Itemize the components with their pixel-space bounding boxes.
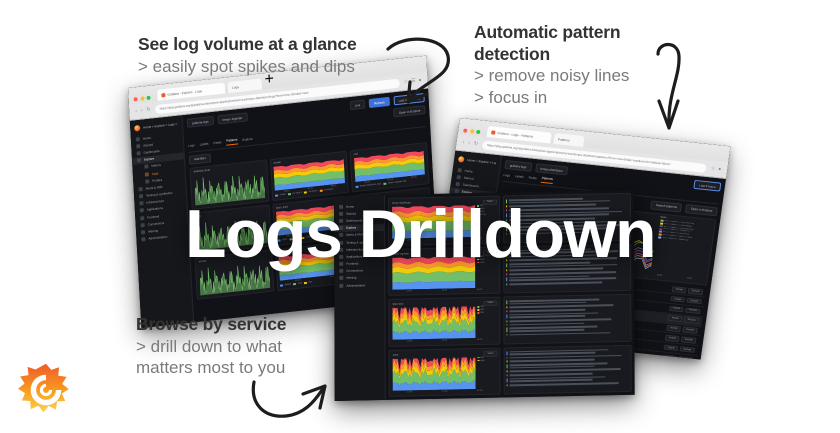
home-icon xyxy=(136,137,140,141)
sidebar-item-label: Profiles xyxy=(152,178,162,183)
axis-tick: 14:00 xyxy=(477,389,482,391)
star-icon xyxy=(339,212,343,216)
legend-swatch xyxy=(659,228,662,230)
sidebar-item-label: Connections xyxy=(346,269,363,273)
exclude-button[interactable]: Exclude xyxy=(685,307,700,314)
row-actions[interactable]: IncludeExclude xyxy=(672,286,703,295)
tab-fields[interactable]: Fields xyxy=(528,175,537,181)
legend-swatch xyxy=(477,357,480,358)
service-panel[interactable]: nginx-jsonSelect20040450012:0013:0014:00 xyxy=(388,297,500,347)
reload-icon[interactable]: ↻ xyxy=(473,141,478,147)
row-actions[interactable]: IncludeExclude xyxy=(662,354,693,359)
sidebar-item-label: Applications xyxy=(346,254,362,258)
legend-swatch xyxy=(288,193,291,195)
sidebar-item-label: Starred xyxy=(346,211,356,215)
log-level-indicator xyxy=(507,351,508,355)
panel-legend[interactable]: 200404500 xyxy=(477,306,497,338)
annotation-line: > drill down to what xyxy=(136,336,286,358)
service-panel[interactable]: mimirSelectinfowarn12:0013:0014:00 xyxy=(389,347,501,397)
log-level-indicator xyxy=(506,206,507,208)
annotation-log-volume: See log volume at a glance > easily spot… xyxy=(138,34,357,77)
legend-label: 200 xyxy=(480,306,483,308)
log-level-indicator xyxy=(506,227,507,231)
legend-item[interactable]: eu-west-1 xyxy=(288,192,302,196)
plug-icon xyxy=(339,269,343,273)
panel[interactable]: cluster08:2008:3008:40clustereu-west-1us… xyxy=(270,150,350,200)
select-datasource[interactable]: grafana-logs xyxy=(504,160,532,172)
close-icon[interactable] xyxy=(134,97,138,101)
axis-tick: 14:00 xyxy=(686,278,692,281)
service-panel[interactable]: tempo-ingesterSelectinfowarnerror12:0013… xyxy=(388,246,500,296)
chart-legend[interactable]: Namets=<_> caller=<_> level=info msgts=<… xyxy=(653,217,713,279)
plug-icon xyxy=(141,223,145,227)
tab-logs[interactable]: Logs xyxy=(503,172,510,178)
legend-label: warn xyxy=(481,359,485,361)
panel-title: mimir xyxy=(392,353,398,356)
log-level-indicator xyxy=(506,256,507,258)
browser-icon xyxy=(140,216,144,220)
legend-swatch xyxy=(477,259,480,260)
curved-arrow-up-right-icon xyxy=(248,378,332,426)
legend-swatch xyxy=(477,306,480,307)
compass-icon xyxy=(137,158,141,162)
panel-body: infowarnerror xyxy=(392,255,497,289)
legend-swatch xyxy=(289,238,292,240)
annotation-heading: See log volume at a glance xyxy=(138,34,357,56)
sidebar-item-label: Administration xyxy=(346,283,365,287)
metrics-icon xyxy=(144,165,148,169)
tab-fields[interactable]: Fields xyxy=(213,140,221,146)
select-service[interactable]: tempo-ingester xyxy=(217,112,247,124)
panel-chart xyxy=(392,357,475,391)
axis-tick: 08:30 xyxy=(307,187,313,190)
legend-label: us-east-1 xyxy=(309,190,318,193)
exclude-button[interactable]: Exclude xyxy=(688,288,703,295)
panel-chart xyxy=(392,306,475,340)
legend-label: debug xyxy=(480,214,486,216)
legend-label: info xyxy=(480,205,483,207)
service-panel[interactable]: tempo-distributorSelectinfowarnerrordebu… xyxy=(388,196,500,246)
browser-tab-label: Patterns xyxy=(558,137,570,142)
axis-tick: 08:30 xyxy=(388,178,394,181)
breadcrumb: Home > Explore > Logs > Fields xyxy=(143,122,178,130)
legend-item[interactable]: server xyxy=(289,237,300,240)
log-level-indicator xyxy=(506,283,507,285)
legend-swatch xyxy=(355,186,358,188)
legend-item[interactable]: 404 xyxy=(477,309,497,311)
log-level-indicator xyxy=(506,260,507,262)
legend-item[interactable]: internal xyxy=(302,236,314,239)
row-actions[interactable]: IncludeExclude xyxy=(664,344,695,353)
log-text-run xyxy=(509,231,593,234)
log-level-indicator xyxy=(506,273,507,275)
panel-legend[interactable]: infowarnerror xyxy=(477,255,497,287)
legend-swatch xyxy=(659,225,662,227)
legend-swatch xyxy=(658,231,661,233)
legend-item[interactable]: prod xyxy=(293,282,302,285)
legend-swatch xyxy=(304,282,307,284)
tab-explore[interactable]: Explore xyxy=(242,136,252,143)
shield-icon xyxy=(339,283,343,287)
grafana-logo-icon[interactable] xyxy=(134,125,140,132)
panel[interactable]: pod08:2008:3008:40tempo-distributor-xk21… xyxy=(350,142,430,192)
sidebar-item-label: Frontend xyxy=(346,262,358,266)
legend-swatch xyxy=(278,240,281,242)
tab-labels[interactable]: Labels xyxy=(515,174,525,180)
axis-tick: 12:00 xyxy=(407,340,412,342)
legend-swatch xyxy=(302,237,305,239)
legend-label: prod xyxy=(298,282,302,284)
legend-item[interactable]: error xyxy=(477,261,497,263)
maximize-icon[interactable] xyxy=(146,96,150,100)
legend-label: 500 xyxy=(480,312,483,314)
axis-tick: 13:00 xyxy=(442,340,447,342)
log-level-indicator xyxy=(506,277,507,281)
panel[interactable]: service xyxy=(194,249,274,299)
legend-swatch xyxy=(293,283,296,285)
panel-body: 200404500 xyxy=(392,306,497,340)
axis-tick: 08:40 xyxy=(411,176,417,179)
grafana-app: HomeStarredDashboardsExploreAlerts & IRM… xyxy=(334,190,635,401)
annotation-heading: Automatic pattern xyxy=(474,22,629,44)
sidebar-item-label: Alerting xyxy=(148,229,158,234)
row-actions[interactable]: IncludeExclude xyxy=(669,306,700,315)
panel-chart xyxy=(198,257,270,295)
tab-patterns[interactable]: Patterns xyxy=(226,137,237,145)
panel-chart xyxy=(196,212,268,250)
log-level-indicator xyxy=(506,320,507,322)
legend-item[interactable]: dev xyxy=(304,281,312,284)
panel-title: tempo-ingester xyxy=(392,252,409,255)
favicon-icon xyxy=(161,93,165,97)
panel-chart xyxy=(193,167,265,205)
sidebar-item-label: Home xyxy=(143,135,151,140)
panel-title: nginx-json xyxy=(392,303,404,306)
log-level-indicator xyxy=(506,310,507,312)
include-button[interactable]: Include xyxy=(672,286,687,293)
log-lines-panel[interactable] xyxy=(503,243,631,293)
minimize-icon[interactable] xyxy=(469,129,474,133)
axis-tick: 14:00 xyxy=(477,288,482,290)
grafana-main: tempo-distributorSelectinfowarnerrordebu… xyxy=(385,190,635,400)
legend-swatch xyxy=(477,360,480,361)
beaker-icon xyxy=(339,240,343,244)
log-level-indicator xyxy=(506,263,507,267)
axis-tick: 08:30 xyxy=(310,232,316,235)
exclude-button[interactable]: Exclude xyxy=(680,346,695,353)
grafana-sidebar[interactable]: HomeStarredDashboardsExploreAlerts & IRM… xyxy=(334,195,386,401)
beaker-icon xyxy=(139,194,143,198)
row-actions[interactable]: IncludeExclude xyxy=(666,325,697,334)
alert-icon xyxy=(141,230,145,234)
axis-tick: 12:00 xyxy=(407,391,412,393)
legend-label: tempo-distributor-xk21 xyxy=(360,183,382,187)
hooked-arrow-down-icon xyxy=(648,38,692,134)
legend-swatch xyxy=(275,195,278,197)
sidebar-item-label: Frontend xyxy=(147,214,159,219)
row-actions[interactable]: IncludeExclude xyxy=(665,335,696,344)
legend-swatch xyxy=(477,208,480,209)
legend-label: us-west-2 xyxy=(324,188,334,191)
apps-icon xyxy=(339,255,343,259)
legend-item[interactable]: warn xyxy=(477,359,497,361)
legend-label: eu-west-1 xyxy=(293,192,303,195)
maximize-icon[interactable] xyxy=(476,130,481,134)
axis-tick: 14:00 xyxy=(476,238,481,240)
log-message xyxy=(510,382,629,386)
sidebar-nav[interactable]: HomeStarredDashboardsExploreAlerts & IRM… xyxy=(334,198,384,289)
forward-icon[interactable]: › xyxy=(141,108,143,114)
compass-icon xyxy=(339,226,343,230)
annotation-line: > remove noisy lines xyxy=(474,65,629,87)
axis-tick: 12:00 xyxy=(407,290,412,292)
select-datasource[interactable]: grafana-logs xyxy=(187,116,214,128)
legend-label: warn xyxy=(480,258,484,260)
legend-item[interactable]: client xyxy=(278,239,288,242)
back-icon[interactable]: ‹ xyxy=(135,108,137,114)
log-level-indicator xyxy=(506,250,507,254)
axis-tick: 13:00 xyxy=(656,274,662,277)
log-level-indicator xyxy=(507,371,508,373)
log-text-run xyxy=(510,332,611,336)
select-service[interactable]: tempo-distributor xyxy=(535,163,569,175)
sidebar-item-label: Home xyxy=(346,204,354,208)
log-level-indicator xyxy=(506,324,507,326)
annotation-line: > focus in xyxy=(474,87,629,109)
sidebar-item-label: Explore xyxy=(346,226,356,230)
log-level-indicator xyxy=(506,209,507,211)
dashboard-icon xyxy=(456,182,461,186)
log-level-indicator xyxy=(507,364,508,368)
panel-legend[interactable]: infowarn xyxy=(477,356,497,388)
exclude-button[interactable]: Exclude xyxy=(678,356,693,360)
grafana-logo-icon xyxy=(18,362,74,418)
log-level-indicator xyxy=(506,213,507,217)
legend-swatch xyxy=(658,236,661,238)
axis-tick: 13:00 xyxy=(441,239,446,241)
minimize-icon[interactable] xyxy=(140,96,144,100)
legend-item[interactable]: 500 xyxy=(477,312,497,314)
open-in-explore-button[interactable]: Open in Explore xyxy=(685,204,718,216)
bell-icon xyxy=(139,187,143,191)
legend-swatch xyxy=(477,214,480,215)
reload-icon[interactable]: ↻ xyxy=(146,107,151,113)
log-lines-panel[interactable] xyxy=(503,193,631,243)
log-level-indicator xyxy=(506,334,507,336)
include-button[interactable]: Include xyxy=(668,315,683,322)
profiles-icon xyxy=(145,179,149,183)
annotation-heading-2: detection xyxy=(474,44,629,66)
sidebar-item-label: Starred xyxy=(143,142,153,147)
exclude-button[interactable]: Exclude xyxy=(686,298,701,305)
legend-label: warn xyxy=(480,208,484,210)
server-icon xyxy=(139,201,143,205)
log-lines-panel[interactable] xyxy=(504,344,632,394)
legend-label: error xyxy=(480,261,484,263)
log-level-indicator xyxy=(506,219,507,221)
exclude-button[interactable]: Exclude xyxy=(681,336,696,343)
back-icon[interactable]: ‹ xyxy=(462,139,464,145)
legend-swatch xyxy=(477,262,480,263)
tab-labels[interactable]: Labels xyxy=(200,141,209,147)
log-level-indicator xyxy=(506,314,507,318)
logs-icon xyxy=(145,172,149,176)
include-button[interactable]: Include xyxy=(664,344,679,351)
panel-chart xyxy=(392,256,475,290)
legend-item[interactable]: us-east-1 xyxy=(304,190,318,193)
sidebar-item-label: Testing & synthetics xyxy=(346,240,373,245)
legend-item[interactable]: debug xyxy=(477,214,497,216)
log-level-indicator xyxy=(507,374,508,376)
bell-icon xyxy=(339,233,343,237)
legend-item[interactable]: error xyxy=(477,211,497,213)
annotation-line: matters most to you xyxy=(136,357,286,379)
axis-tick: 13:00 xyxy=(442,390,447,392)
legend-label: 404 xyxy=(480,309,483,311)
row-actions[interactable]: IncludeExclude xyxy=(668,315,699,324)
legend-item[interactable]: tempo-ingester-9f0 xyxy=(383,180,406,184)
legend-label: default xyxy=(285,284,292,287)
legend-item[interactable]: default xyxy=(280,284,291,287)
include-button[interactable]: Include xyxy=(662,354,677,359)
include-button[interactable]: Include xyxy=(665,335,680,342)
panel[interactable]: detected_level xyxy=(189,159,269,209)
annotation-pattern-detection: Automatic pattern detection > remove noi… xyxy=(474,22,629,108)
panel-chart xyxy=(392,205,475,239)
star-icon xyxy=(457,175,462,179)
legend-label: info xyxy=(481,356,484,358)
browser-tab-label: Grafana - Explore - Logs xyxy=(167,89,202,97)
promo-banner: Grafana - Explore - Logs Logs + ‹ › ↻ ht… xyxy=(0,0,840,433)
include-button[interactable]: Include xyxy=(666,325,681,332)
legend-label: info xyxy=(480,255,483,257)
sidebar-item-label: Alerts & IRM xyxy=(346,233,363,237)
panel-body: infowarn xyxy=(392,356,497,390)
legend-item[interactable]: cluster xyxy=(275,194,286,197)
legend-swatch xyxy=(477,256,480,257)
exclude-button[interactable]: Exclude xyxy=(684,317,699,324)
panel-title: tempo-distributor xyxy=(392,201,411,204)
annotation-heading: Browse by service xyxy=(136,314,286,336)
server-icon xyxy=(339,248,343,252)
live-toggle[interactable]: Live xyxy=(350,99,366,110)
log-message xyxy=(509,281,628,285)
exclude-button[interactable]: Exclude xyxy=(682,327,697,334)
legend-swatch xyxy=(280,285,283,287)
star-icon xyxy=(136,144,140,148)
log-level-indicator xyxy=(506,328,507,332)
favicon-icon xyxy=(491,130,496,134)
sidebar-nav[interactable]: HomeStarredDashboardsExploreMetricsLogsP… xyxy=(131,130,189,243)
log-level-indicator xyxy=(506,307,507,309)
axis-tick: 08:20 xyxy=(286,235,292,238)
log-lines-column xyxy=(503,193,632,395)
close-icon[interactable] xyxy=(463,128,468,132)
home-icon xyxy=(339,204,343,208)
panel-legend[interactable]: infowarnerrordebug xyxy=(477,205,497,237)
log-level-indicator xyxy=(507,378,508,382)
axis-tick: 13:00 xyxy=(442,289,447,291)
browser-tab-label: Grafana - Logs - Patterns xyxy=(497,130,533,138)
axis-tick: 14:00 xyxy=(477,339,482,341)
curved-arrow-down-left-icon xyxy=(386,32,458,110)
legend-label: client xyxy=(282,239,287,242)
axis-tick: 08:20 xyxy=(364,181,370,184)
legend-swatch xyxy=(320,190,323,192)
dashboard-icon xyxy=(137,151,141,155)
panel-body: infowarnerrordebug xyxy=(392,205,497,239)
browser-toolbar-icons[interactable]: ☆ ● xyxy=(710,166,721,173)
legend-swatch xyxy=(477,211,480,212)
legend-swatch xyxy=(477,205,480,206)
sidebar-item-label: Logs xyxy=(152,171,159,176)
bookmark-icon[interactable]: ☆ xyxy=(710,166,715,172)
legend-swatch xyxy=(660,220,663,222)
sidebar-item-label: Infrastructure xyxy=(346,247,364,251)
add-filter-button[interactable]: Add filter xyxy=(189,153,211,164)
axis-tick: 12:00 xyxy=(406,239,411,241)
legend-swatch xyxy=(383,183,386,185)
service-panel-column: tempo-distributorSelectinfowarnerrordebu… xyxy=(388,196,501,397)
legend-swatch xyxy=(477,309,480,310)
sidebar-item-label: Dashboards xyxy=(346,218,362,222)
legend-item[interactable]: info xyxy=(477,205,497,207)
tab-logs[interactable]: Logs xyxy=(188,143,195,149)
legend-item[interactable]: warn xyxy=(477,208,497,210)
breadcrumb: Home > Explore > Logs > Patterns xyxy=(467,158,496,165)
include-button[interactable]: Include xyxy=(671,296,686,303)
legend-item[interactable]: us-west-2 xyxy=(320,188,334,192)
log-level-indicator xyxy=(507,357,508,359)
tab-patterns[interactable]: Patterns xyxy=(541,176,553,184)
log-level-indicator xyxy=(506,199,507,203)
legend-label: dev xyxy=(308,281,312,283)
axis-tick: 08:20 xyxy=(284,190,290,193)
grafana-logo-icon[interactable] xyxy=(458,156,465,163)
include-button[interactable]: Include xyxy=(669,306,684,313)
apps-icon xyxy=(140,208,144,212)
legend-swatch xyxy=(658,234,661,236)
annotation-browse-by-service: Browse by service > drill down to what m… xyxy=(136,314,286,379)
profile-icon[interactable]: ● xyxy=(718,166,722,172)
legend-swatch xyxy=(477,312,480,313)
log-level-indicator xyxy=(506,270,507,272)
log-message xyxy=(510,331,629,335)
forward-icon[interactable]: › xyxy=(468,140,470,146)
browser-tab-label: Logs xyxy=(232,85,239,90)
row-actions[interactable]: IncludeExclude xyxy=(671,296,702,305)
search-patterns-input[interactable]: Search patterns xyxy=(650,200,682,212)
dashboard-icon xyxy=(339,219,343,223)
alert-icon xyxy=(339,276,343,280)
legend-swatch xyxy=(304,192,307,194)
sidebar-item-label: Metrics xyxy=(151,163,161,168)
sidebar-item-label: Dashboards xyxy=(462,183,479,189)
panel[interactable]: host xyxy=(192,204,272,254)
log-message xyxy=(509,230,628,234)
log-level-indicator xyxy=(507,384,508,386)
log-lines-panel[interactable] xyxy=(503,294,631,344)
log-level-indicator xyxy=(506,223,507,225)
time-range-picker[interactable]: Last 6 hours xyxy=(694,180,722,192)
legend-swatch xyxy=(660,223,663,225)
sidebar-item-label: Alerting xyxy=(346,276,356,280)
sidebar-item-administration[interactable]: Administration xyxy=(334,281,384,289)
browser-window-service-browse[interactable]: HomeStarredDashboardsExploreAlerts & IRM… xyxy=(334,190,635,401)
legend-label: tempo-ingester-9f0 xyxy=(388,180,406,184)
axis-tick: 08:20 xyxy=(295,279,301,282)
shield-icon xyxy=(141,237,145,241)
